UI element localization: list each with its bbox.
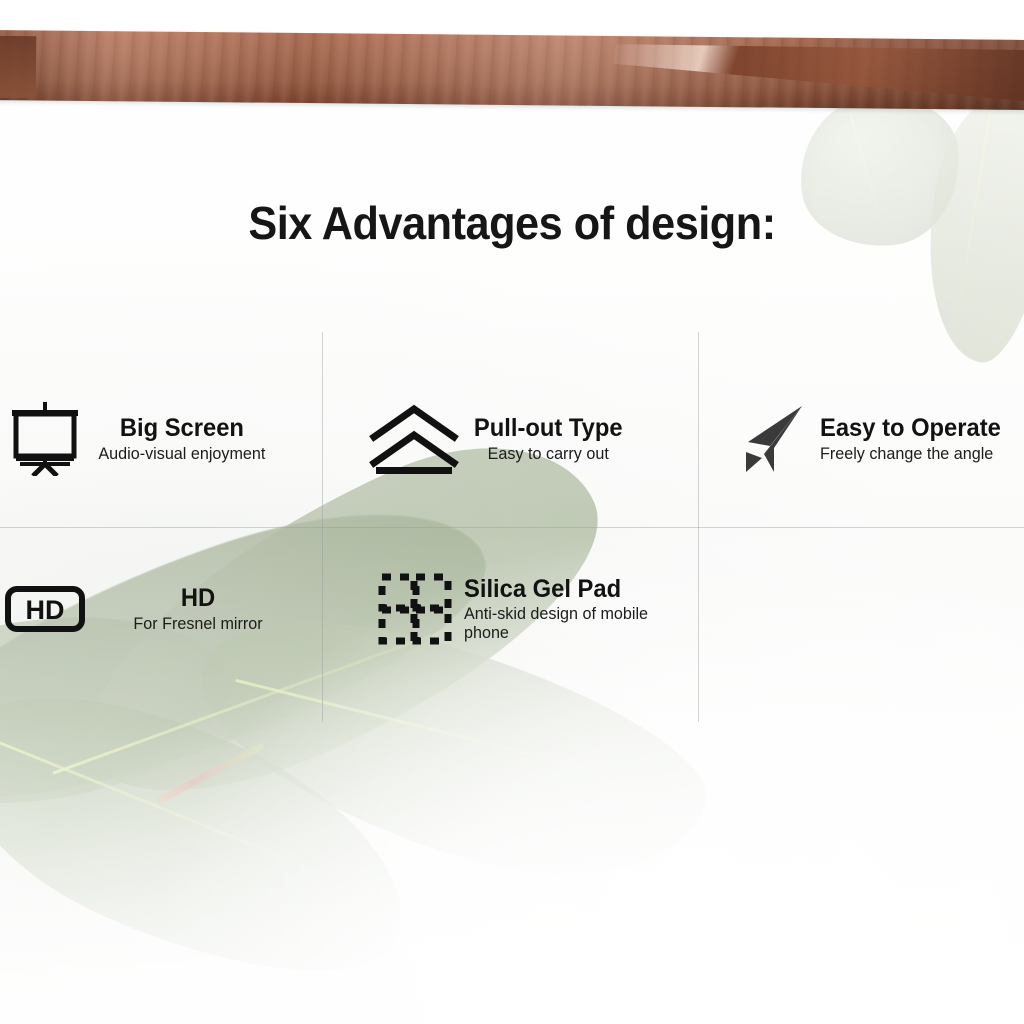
feature-subtext: Freely change the angle — [820, 444, 1001, 463]
paper-plane-icon — [730, 402, 810, 476]
feature-heading: Big Screen — [98, 415, 265, 441]
feature-text-pull-out-type: Pull-out Type Easy to carry out — [460, 415, 626, 462]
feature-subtext: Anti-skid design of mobile phone — [464, 604, 664, 642]
double-chevron-up-icon — [368, 403, 460, 475]
feature-heading: Silica Gel Pad — [464, 576, 664, 602]
feature-text-silica-gel-pad: Silica Gel Pad Anti-skid design of mobil… — [454, 576, 674, 642]
feature-item-silica-gel-pad: Silica Gel Pad Anti-skid design of mobil… — [376, 550, 698, 668]
page-title: Six Advantages of design: — [31, 196, 994, 250]
feature-heading: HD — [133, 585, 262, 611]
feature-subtext: Audio-visual enjoyment — [98, 444, 265, 463]
grid-divider-horizontal — [0, 527, 1024, 528]
feature-item-easy-to-operate: Easy to Operate Freely change the angle — [730, 384, 1024, 494]
feature-text-big-screen: Big Screen Audio-visual enjoyment — [84, 415, 270, 462]
feature-item-pull-out-type: Pull-out Type Easy to carry out — [368, 384, 698, 494]
content-layer: Six Advantages of design: — [0, 0, 1024, 1024]
feature-item-hd: HD HD For Fresnel mirror — [4, 554, 322, 664]
feature-subtext: For Fresnel mirror — [133, 614, 262, 633]
feature-heading: Easy to Operate — [820, 415, 1001, 441]
feature-text-hd: HD For Fresnel mirror — [86, 585, 266, 632]
svg-text:HD: HD — [26, 595, 65, 625]
hd-badge-icon: HD — [4, 585, 86, 633]
dashed-grid-icon — [376, 572, 454, 646]
features-grid: Big Screen Audio-visual enjoyment Pull-o… — [0, 332, 1024, 722]
product-infographic: Six Advantages of design: — [0, 0, 1024, 1024]
feature-subtext: Easy to carry out — [474, 444, 623, 463]
feature-text-easy-to-operate: Easy to Operate Freely change the angle — [810, 415, 1010, 462]
projector-screen-icon — [8, 402, 84, 476]
feature-item-big-screen: Big Screen Audio-visual enjoyment — [8, 384, 322, 494]
feature-heading: Pull-out Type — [474, 415, 623, 441]
